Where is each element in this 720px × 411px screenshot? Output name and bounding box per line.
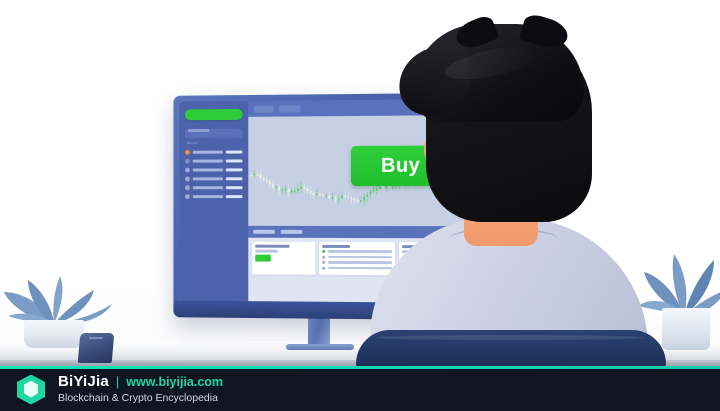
smartphone[interactable] xyxy=(78,333,115,363)
sidebar-section-label: Markets xyxy=(187,142,242,145)
coin-name: Binance xyxy=(193,186,223,189)
footer-bar: BiYiJia | www.biyijia.com Blockchain & C… xyxy=(0,366,720,411)
coin-icon xyxy=(185,150,190,155)
sidebar-cta-button[interactable] xyxy=(185,109,242,120)
coin-name: Cardano xyxy=(193,177,223,180)
card-latest-title xyxy=(322,245,350,248)
phone-speaker xyxy=(89,337,103,339)
hexagon-logo-icon xyxy=(16,372,46,406)
coin-row[interactable]: Bitcoin53,902 xyxy=(185,148,242,157)
coin-price: 2,4172 xyxy=(226,186,243,189)
coin-price: 13,459 xyxy=(226,159,243,162)
card-results-subtitle xyxy=(255,250,278,253)
app-sidebar: Markets Bitcoin53,902Tether13,459Polkado… xyxy=(179,101,248,301)
apps-grid-icon[interactable] xyxy=(676,375,704,403)
coin-row[interactable]: Tether13,459 xyxy=(185,156,242,165)
coin-list: Bitcoin53,902Tether13,459Polkadot2,0833C… xyxy=(185,148,242,202)
lower-tab-configure[interactable] xyxy=(281,230,303,234)
office-chair xyxy=(356,330,666,370)
coin-row[interactable]: Polkadot2,0833 xyxy=(185,165,242,174)
coin-name: Huobi xyxy=(193,195,223,198)
brand-primary-line: BiYiJia | www.biyijia.com xyxy=(58,373,223,390)
coin-price: 1,2039 xyxy=(226,195,243,198)
coin-icon xyxy=(185,194,190,199)
nav-tab-market[interactable] xyxy=(279,105,301,112)
coin-price: 2,0833 xyxy=(226,168,243,171)
sidebar-search-input[interactable] xyxy=(185,129,242,138)
coin-icon xyxy=(185,159,190,164)
monitor-stand-base xyxy=(286,344,354,350)
coin-name: Bitcoin xyxy=(193,151,223,154)
person-figure xyxy=(352,22,682,366)
plant-left-leaves xyxy=(2,276,118,326)
coin-icon xyxy=(185,185,190,190)
brand-url[interactable]: www.biyijia.com xyxy=(126,375,223,389)
brand-separator: | xyxy=(116,374,119,389)
card-results-action[interactable] xyxy=(255,255,271,262)
brand-text-block: BiYiJia | www.biyijia.com Blockchain & C… xyxy=(58,373,223,404)
brand-name: BiYiJia xyxy=(58,373,109,390)
coin-icon xyxy=(185,168,190,173)
brand-tagline: Blockchain & Crypto Encyclopedia xyxy=(58,392,223,404)
search-placeholder-icon xyxy=(188,129,209,132)
bullet-dot-icon xyxy=(322,261,325,264)
card-results-title xyxy=(255,245,289,248)
coin-row[interactable]: Binance2,4172 xyxy=(185,183,242,192)
coin-price: 10,7348 xyxy=(226,177,243,180)
coin-icon xyxy=(185,176,190,181)
chair-highlight xyxy=(378,335,644,340)
coin-name: Tether xyxy=(193,160,223,163)
footer-accent-line xyxy=(0,366,720,369)
lower-tab-overview[interactable] xyxy=(253,230,275,234)
card-results[interactable] xyxy=(252,242,315,275)
illustration-scene: Markets Bitcoin53,902Tether13,459Polkado… xyxy=(0,0,720,411)
nav-tab-price[interactable] xyxy=(254,105,274,112)
coin-row[interactable]: Huobi1,2039 xyxy=(185,192,242,201)
bullet-dot-icon xyxy=(322,250,325,253)
bullet-dot-icon xyxy=(322,255,325,258)
monitor-stand-neck xyxy=(308,316,330,346)
coin-price: 53,902 xyxy=(226,151,243,154)
coin-name: Polkadot xyxy=(193,168,223,171)
bullet-dot-icon xyxy=(322,266,325,269)
coin-row[interactable]: Cardano10,7348 xyxy=(185,174,242,183)
plant-left-pot xyxy=(24,320,84,348)
